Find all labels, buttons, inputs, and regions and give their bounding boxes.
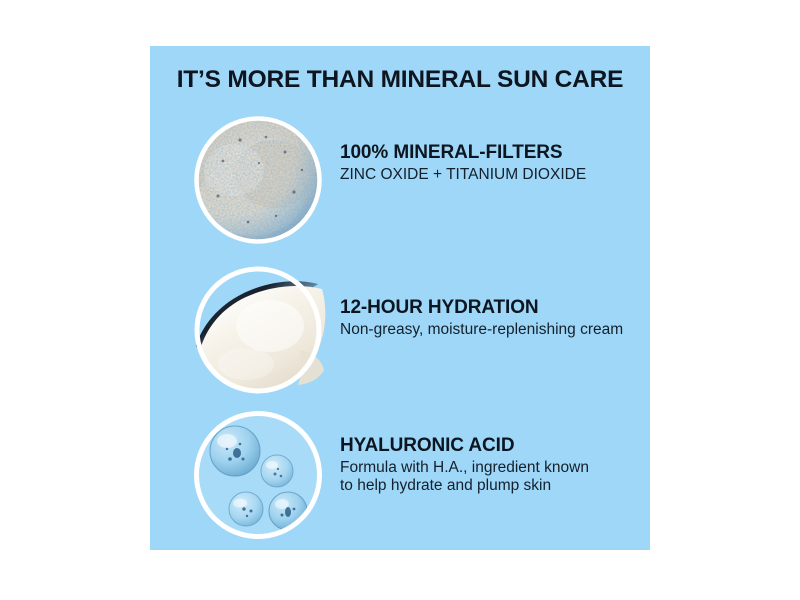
feature-text-hydration: 12-HOUR HYDRATION Non-greasy, moisture-r… [340,297,640,339]
feature-row-hydration: 12-HOUR HYDRATION Non-greasy, moisture-r… [150,265,650,395]
feature-text-mineral-filters: 100% MINERAL-FILTERS ZINC OXIDE + TITANI… [340,142,640,184]
page-title: IT’S MORE THAN MINERAL SUN CARE [150,68,650,93]
feature-title: 12-HOUR HYDRATION [340,297,640,319]
feature-subtitle-line-2: to help hydrate and plump skin [340,477,640,496]
cream-swatch-circle-image [198,270,318,390]
feature-title: HYALURONIC ACID [340,435,640,457]
feature-subtitle: Non-greasy, moisture-replenishing cream [340,321,640,340]
feature-subtitle-line-1: Formula with H.A., ingredient known [340,459,640,478]
mineral-powder-circle-image [198,120,318,240]
feature-title: 100% MINERAL-FILTERS [340,142,640,164]
feature-text-hyaluronic-acid: HYALURONIC ACID Formula with H.A., ingre… [340,435,640,496]
blue-content-panel: IT’S MORE THAN MINERAL SUN CARE [150,46,650,550]
water-droplets-circle-image [198,415,318,535]
feature-subtitle: ZINC OXIDE + TITANIUM DIOXIDE [340,166,640,185]
feature-row-mineral-filters: 100% MINERAL-FILTERS ZINC OXIDE + TITANI… [150,115,650,245]
feature-row-hyaluronic-acid: HYALURONIC ACID Formula with H.A., ingre… [150,410,650,540]
product-infographic-canvas: IT’S MORE THAN MINERAL SUN CARE [0,0,800,600]
